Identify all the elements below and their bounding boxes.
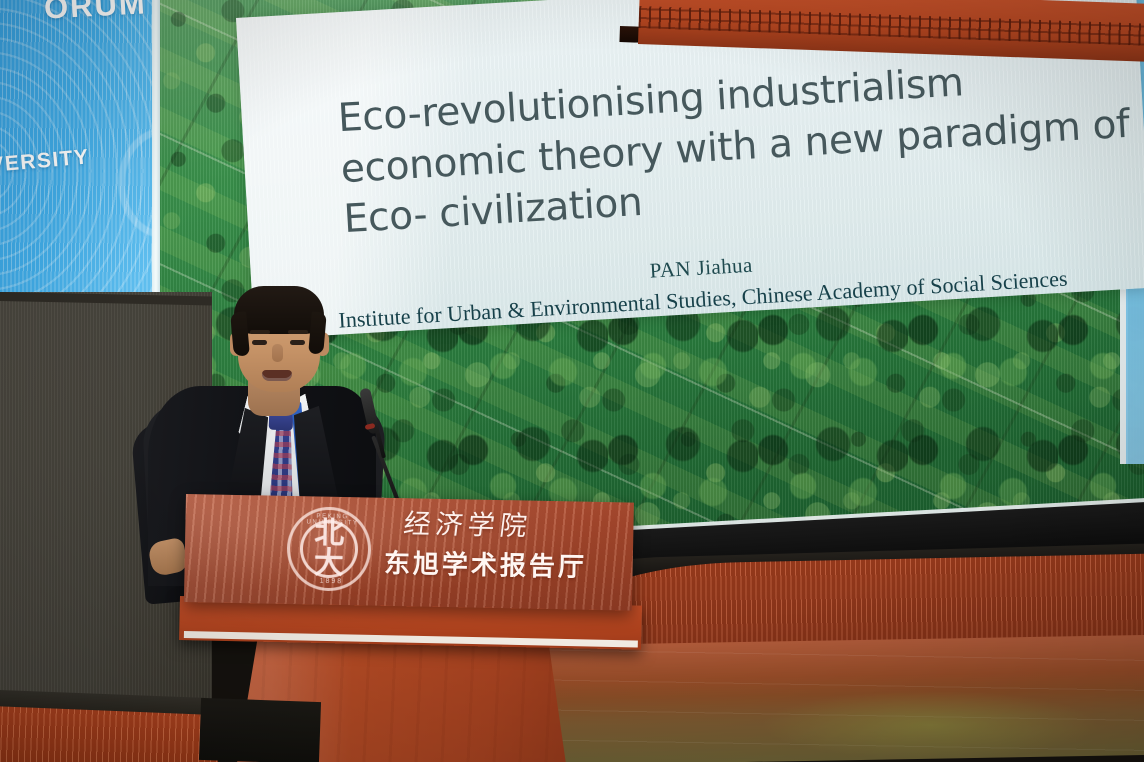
podium-school-name: 经济学院 — [402, 502, 535, 543]
podium-shadow — [199, 698, 321, 762]
floor-reflection-glow — [760, 690, 1100, 760]
speaker-brow-right — [288, 330, 308, 334]
speaker-eye-right — [290, 340, 305, 345]
seal-glyph: 北大 — [313, 519, 344, 580]
side-blue-screen: ORUM IVERSITY — [0, 0, 158, 300]
speaker-eye-left — [252, 340, 267, 345]
screen-divider — [152, 0, 160, 302]
speaker-mouth — [262, 370, 292, 381]
conference-stage-photo: Eco-revolutionising industrialism econom… — [0, 0, 1144, 762]
lower-wall-red-strip — [0, 706, 220, 762]
speaker-nose — [272, 344, 283, 362]
peking-university-seal: PEKING UNIVERSITY 北大 1898 — [286, 506, 372, 592]
podium-hall-name: 东旭学术报告厅 — [384, 543, 588, 584]
slide-title: Eco-revolutionising industrialism econom… — [337, 49, 1134, 246]
speaker-brow-left — [250, 330, 270, 334]
seal-inner-ring: 北大 — [299, 519, 358, 578]
